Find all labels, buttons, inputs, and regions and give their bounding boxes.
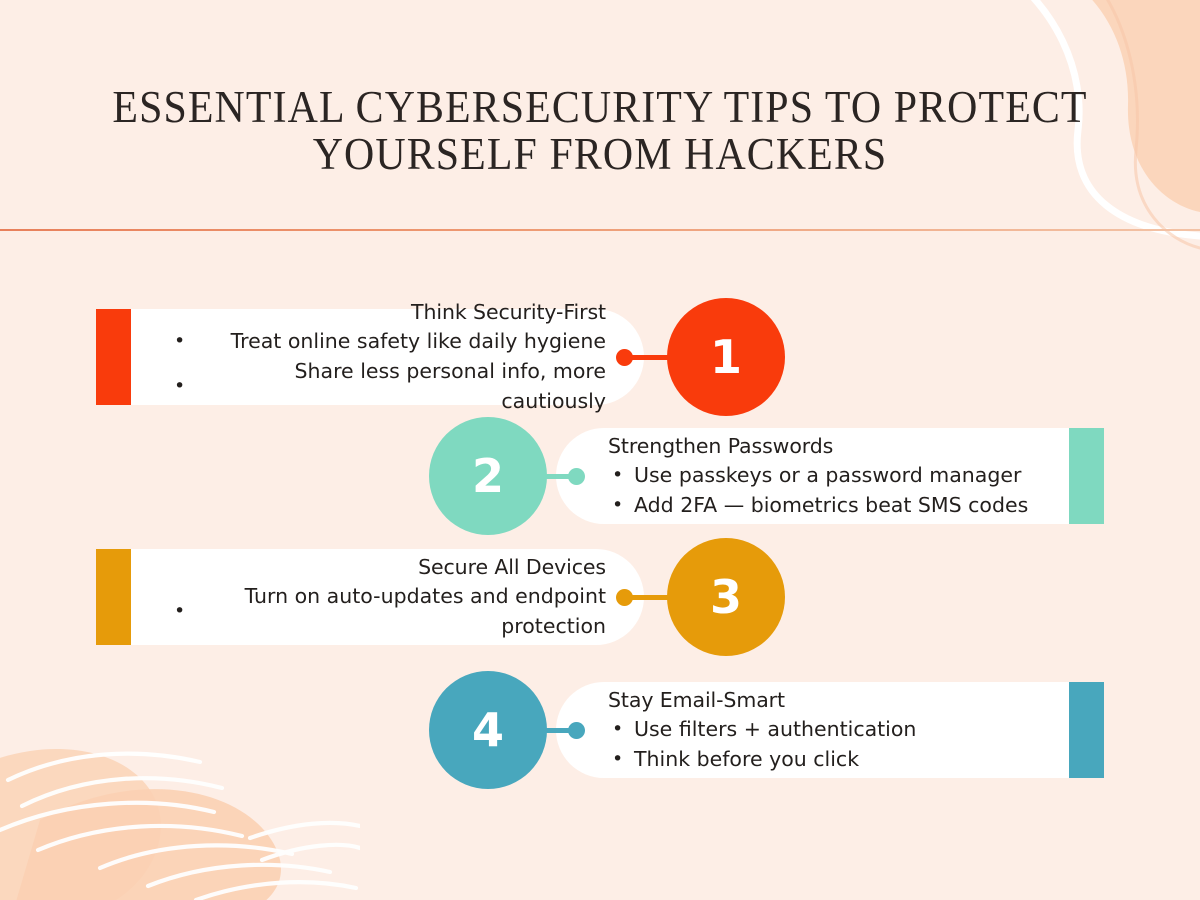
- tip-bullet-item: •Add 2FA — biometrics beat SMS codes: [608, 490, 1064, 520]
- bullet-point-icon: •: [174, 356, 185, 416]
- tip-number-label: 4: [472, 703, 504, 757]
- tip-title: Think Security-First: [146, 298, 606, 326]
- tip-content: Stay Email-Smart•Use filters + authentic…: [556, 686, 1104, 774]
- bullet-point-icon: •: [612, 714, 623, 744]
- tip-content: Strengthen Passwords•Use passkeys or a p…: [556, 432, 1104, 520]
- tip-connector-dot: [616, 349, 633, 366]
- tip-number-label: 1: [710, 330, 742, 384]
- tip-bullet-item: •Use passkeys or a password manager: [608, 460, 1064, 490]
- tip-bullet-text: Use filters + authentication: [634, 717, 916, 741]
- bullet-point-icon: •: [612, 490, 623, 520]
- title-divider: [0, 229, 1200, 231]
- tip-number-badge: 2: [429, 417, 547, 535]
- infographic-canvas: ESSENTIAL CYBERSECURITY TIPS TO PROTECT …: [0, 0, 1200, 900]
- tip-bullet-text: Turn on auto-updates and endpoint protec…: [245, 584, 606, 638]
- page-title: ESSENTIAL CYBERSECURITY TIPS TO PROTECT …: [0, 84, 1200, 178]
- tip-connector-dot: [568, 722, 585, 739]
- tip-title: Strengthen Passwords: [608, 432, 1064, 460]
- bullet-point-icon: •: [174, 581, 185, 641]
- tip-card-2: Strengthen Passwords•Use passkeys or a p…: [0, 428, 1200, 524]
- tip-bullet-item: •Turn on auto-updates and endpoint prote…: [146, 581, 606, 641]
- tip-card-3: Secure All Devices•Turn on auto-updates …: [0, 549, 1200, 645]
- tip-card-body: Secure All Devices•Turn on auto-updates …: [96, 549, 644, 645]
- tip-card-body: Stay Email-Smart•Use filters + authentic…: [556, 682, 1104, 778]
- bullet-point-icon: •: [174, 326, 185, 356]
- tip-bullet-item: •Use filters + authentication: [608, 714, 1064, 744]
- tip-card-1: Think Security-First•Treat online safety…: [0, 309, 1200, 405]
- tip-title: Stay Email-Smart: [608, 686, 1064, 714]
- tip-bullet-list: •Use passkeys or a password manager•Add …: [608, 460, 1064, 520]
- tip-bullet-text: Add 2FA — biometrics beat SMS codes: [634, 493, 1028, 517]
- tip-title: Secure All Devices: [146, 553, 606, 581]
- tip-bullet-item: •Think before you click: [608, 744, 1064, 774]
- tip-number-label: 3: [710, 570, 742, 624]
- tip-card-4: Stay Email-Smart•Use filters + authentic…: [0, 682, 1200, 778]
- tip-bullet-item: •Treat online safety like daily hygiene: [146, 326, 606, 356]
- tip-bullet-list: •Turn on auto-updates and endpoint prote…: [146, 581, 606, 641]
- tip-bullet-text: Treat online safety like daily hygiene: [231, 329, 606, 353]
- title-line-1: ESSENTIAL CYBERSECURITY TIPS TO PROTECT: [42, 84, 1158, 131]
- tip-content: Secure All Devices•Turn on auto-updates …: [96, 553, 644, 641]
- tip-card-body: Strengthen Passwords•Use passkeys or a p…: [556, 428, 1104, 524]
- tip-bullet-list: •Treat online safety like daily hygiene•…: [146, 326, 606, 416]
- tip-card-body: Think Security-First•Treat online safety…: [96, 309, 644, 405]
- tip-bullet-text: Share less personal info, more cautiousl…: [295, 359, 606, 413]
- tip-connector-dot: [616, 589, 633, 606]
- tip-number-badge: 3: [667, 538, 785, 656]
- title-line-2: YOURSELF FROM HACKERS: [42, 131, 1158, 178]
- tip-bullet-text: Use passkeys or a password manager: [634, 463, 1021, 487]
- tip-bullet-item: •Share less personal info, more cautious…: [146, 356, 606, 416]
- tip-number-badge: 1: [667, 298, 785, 416]
- tip-bullet-list: •Use filters + authentication•Think befo…: [608, 714, 1064, 774]
- bullet-point-icon: •: [612, 744, 623, 774]
- tip-number-label: 2: [472, 449, 504, 503]
- tip-content: Think Security-First•Treat online safety…: [96, 298, 644, 416]
- tip-bullet-text: Think before you click: [634, 747, 859, 771]
- tip-connector-dot: [568, 468, 585, 485]
- bullet-point-icon: •: [612, 460, 623, 490]
- tip-number-badge: 4: [429, 671, 547, 789]
